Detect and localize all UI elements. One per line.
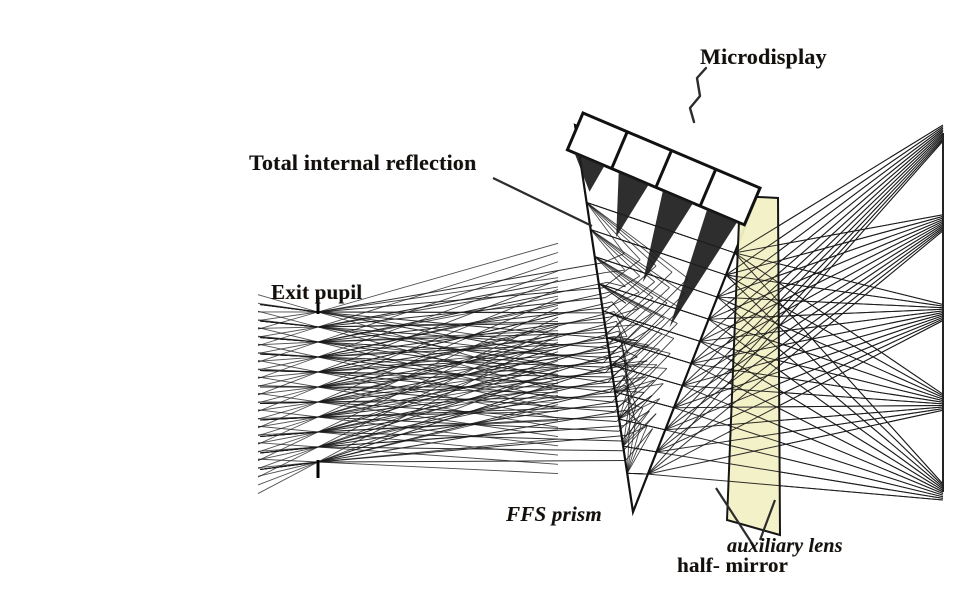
- label-ffs-prism: FFS prism: [506, 502, 602, 527]
- label-microdisplay: Microdisplay: [700, 44, 827, 70]
- optical-diagram-figure: Microdisplay Total internal reflection E…: [0, 0, 974, 608]
- label-total-internal-reflection: Total internal reflection: [249, 150, 476, 176]
- ray-bundle-layer: [258, 125, 943, 500]
- optics-ray-diagram: [0, 0, 974, 608]
- label-auxiliary-lens: auxiliary lens: [727, 535, 843, 558]
- label-exit-pupil: Exit pupil: [271, 280, 362, 305]
